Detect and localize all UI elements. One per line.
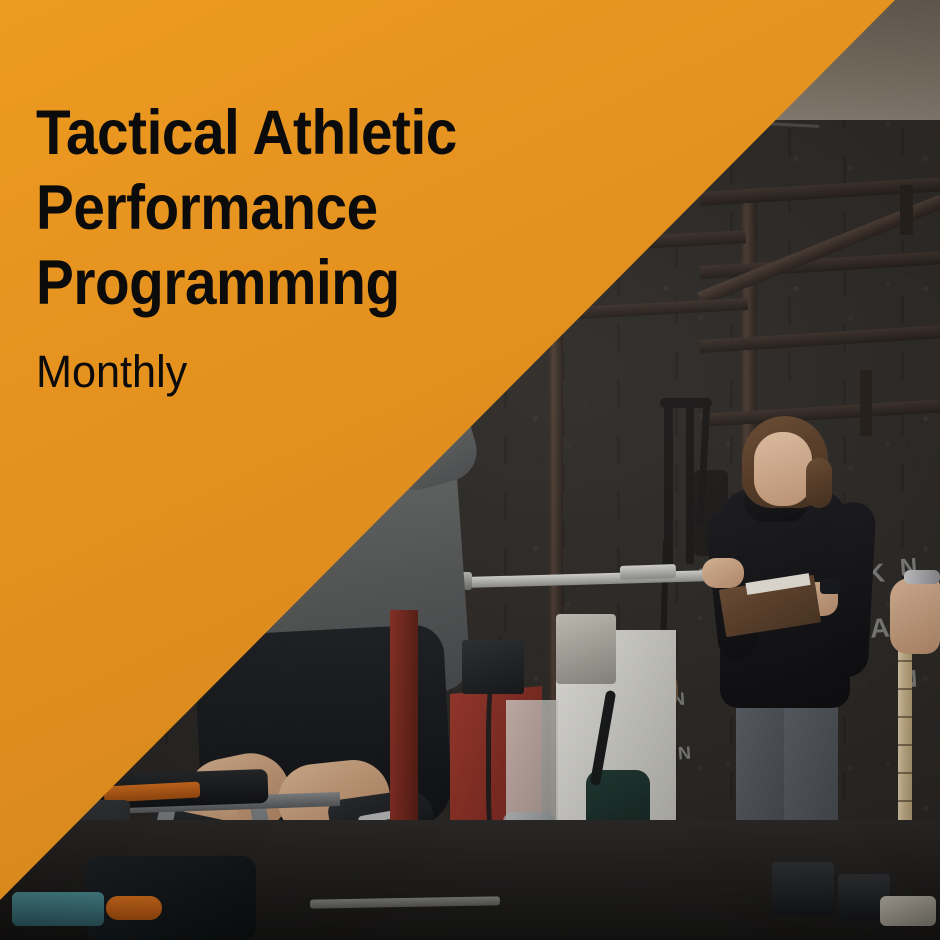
page-title: Tactical Athletic Performance Programmin… (36, 96, 540, 321)
floor-plate (880, 896, 936, 926)
subtitle-frequency: Monthly (36, 347, 574, 397)
assistant-hand (890, 578, 940, 654)
teal-roller (12, 892, 104, 926)
orange-accessory (106, 896, 162, 920)
coach-hand-left (702, 558, 744, 588)
coach-ponytail (806, 458, 832, 508)
stick-tick (898, 688, 912, 690)
crate (462, 640, 524, 694)
dumbbell-1 (772, 862, 834, 916)
program-card: K N A N T N N (0, 0, 940, 940)
assistant-bracelet (904, 570, 940, 584)
silver-bin (556, 614, 616, 684)
rig-wall-bracket-2 (900, 185, 913, 235)
coach-watch (820, 578, 840, 594)
stick-tick (898, 744, 912, 746)
text-block: Tactical Athletic Performance Programmin… (36, 96, 596, 397)
hanging-strap-loop (660, 398, 712, 408)
stick-tick (898, 800, 912, 802)
stick-tick (898, 660, 912, 662)
stick-tick (898, 772, 912, 774)
stick-tick (898, 716, 912, 718)
barbell-far-end (620, 564, 676, 580)
coach-face (754, 432, 812, 506)
